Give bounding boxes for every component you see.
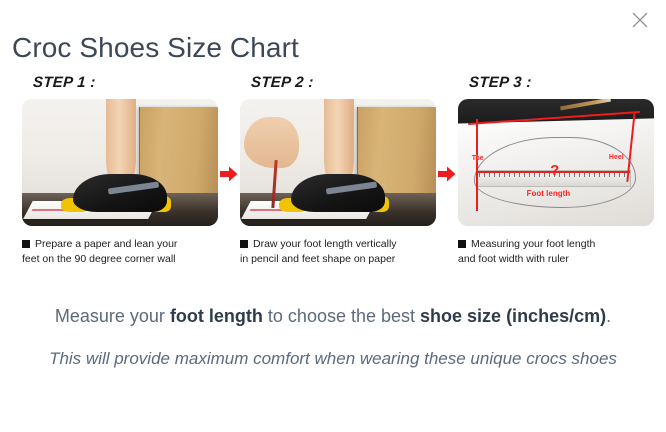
measure-bold-shoe-size: shoe size (inches/cm) [420, 306, 606, 326]
step-caption-2-line2: in pencil and feet shape on paper [240, 253, 395, 265]
black-sock [291, 174, 385, 212]
arrow-step1-to-step2 [218, 166, 240, 182]
step-caption-2-line1: Draw your foot length vertically [253, 238, 397, 250]
step-caption-1-line1: Prepare a paper and lean your [35, 238, 177, 250]
step-image-2 [240, 99, 436, 226]
step-title-1: STEP 1 : [33, 74, 219, 91]
step-caption-2: Draw your foot length vertically in penc… [240, 237, 436, 267]
step-caption-3-line2: and foot width with ruler [458, 253, 569, 265]
close-button[interactable] [625, 5, 655, 35]
annotation-toe-label: Toe [472, 155, 484, 162]
close-icon [631, 11, 649, 29]
arrow-right-icon [220, 166, 238, 182]
black-sock [73, 174, 167, 212]
step-caption-1-line2: feet on the 90 degree corner wall [22, 253, 176, 265]
comfort-note: This will provide maximum comfort when w… [40, 345, 626, 373]
measure-pre: Measure your [55, 306, 170, 326]
step-image-1 [22, 99, 218, 226]
step-card-2: STEP 2 : Draw your foot length verticall… [240, 74, 436, 267]
measure-mid: to choose the best [263, 306, 420, 326]
measure-instruction: Measure your foot length to choose the b… [0, 303, 666, 329]
bullet-square-icon [22, 240, 30, 248]
annotation-question-mark: ? [550, 163, 559, 178]
arrow-step2-to-step3 [436, 166, 458, 182]
step-card-3: STEP 3 : Toe Heel ? Foot length Measurin… [458, 74, 654, 267]
measure-bold-foot-length: foot length [170, 306, 263, 326]
annotation-heel-label: Heel [609, 154, 624, 161]
measure-post: . [606, 306, 611, 326]
steps-row: STEP 1 : Prepare a paper and lean your f… [22, 74, 644, 267]
bullet-square-icon [458, 240, 466, 248]
step-caption-1: Prepare a paper and lean your feet on th… [22, 237, 218, 267]
step-title-2: STEP 2 : [251, 74, 437, 91]
bullet-square-icon [240, 240, 248, 248]
size-chart-modal: Croc Shoes Size Chart STEP 1 : Prepare a… [0, 0, 666, 432]
step-caption-3-line1: Measuring your foot length [471, 238, 595, 250]
hand [244, 117, 299, 168]
step-card-1: STEP 1 : Prepare a paper and lean your f… [22, 74, 218, 267]
page-title: Croc Shoes Size Chart [12, 28, 299, 68]
step-image-3: Toe Heel ? Foot length [458, 99, 654, 226]
annotation-line-left [476, 119, 478, 210]
step-title-3: STEP 3 : [469, 74, 655, 91]
arrow-right-icon [438, 166, 456, 182]
annotation-footlength-label: Foot length [527, 189, 571, 198]
step-caption-3: Measuring your foot length and foot widt… [458, 237, 654, 267]
leg [106, 99, 135, 185]
leg [324, 99, 353, 185]
